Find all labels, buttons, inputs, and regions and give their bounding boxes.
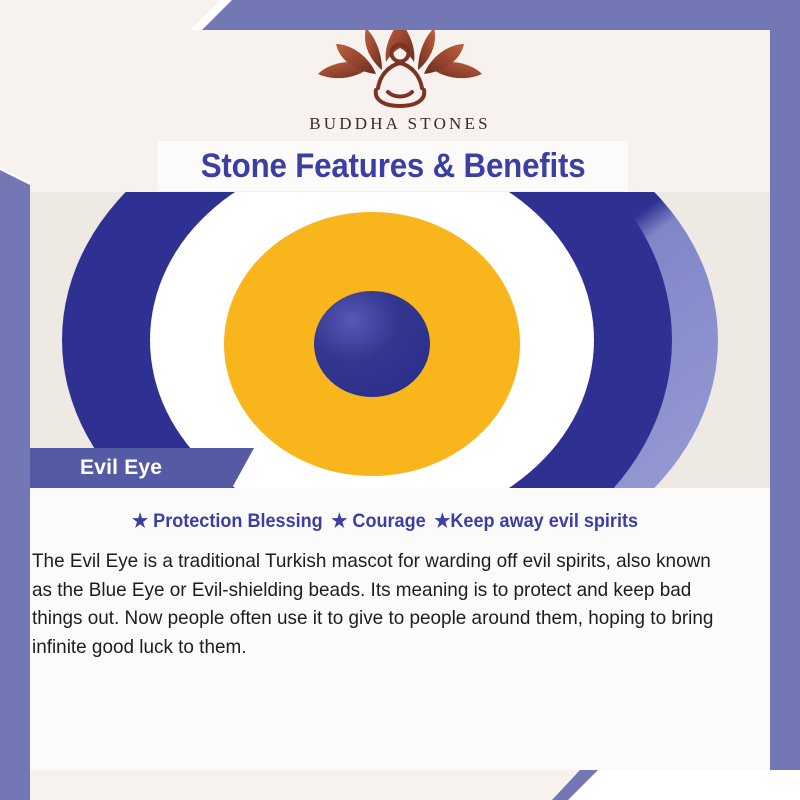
lotus-meditation-icon — [310, 18, 490, 110]
feature-item-1: ★ Courage — [331, 511, 425, 532]
feature-item-0: ★ Protection Blessing — [132, 511, 323, 532]
evil-eye-illustration — [0, 192, 770, 488]
feature-label-0: Protection Blessing — [153, 511, 323, 532]
hero-image — [0, 192, 770, 488]
brand-logo-block: BUDDHA STONES — [0, 18, 800, 134]
star-icon: ★ — [434, 511, 450, 532]
feature-label-1: Courage — [352, 511, 425, 532]
brand-name: BUDDHA STONES — [0, 114, 800, 134]
hero-label-text: Evil Eye — [80, 456, 162, 480]
page-title-banner: Stone Features & Benefits — [158, 141, 628, 191]
hero-label-badge: Evil Eye — [22, 448, 254, 488]
content-panel: ★ Protection Blessing★ Courage★Keep away… — [0, 488, 770, 770]
feature-item-2: ★Keep away evil spirits — [434, 511, 638, 532]
page-title: Stone Features & Benefits — [201, 147, 586, 186]
card-inner-canvas: BUDDHA STONES Stone Features & Benefits — [0, 0, 800, 800]
frame-border-right — [770, 0, 800, 770]
infographic-card: BUDDHA STONES Stone Features & Benefits — [0, 0, 800, 800]
feature-label-2: Keep away evil spirits — [450, 511, 638, 532]
star-icon: ★ — [132, 511, 148, 532]
star-icon: ★ — [331, 511, 347, 532]
description-paragraph: The Evil Eye is a traditional Turkish ma… — [32, 547, 717, 662]
feature-list: ★ Protection Blessing★ Courage★Keep away… — [19, 510, 751, 533]
